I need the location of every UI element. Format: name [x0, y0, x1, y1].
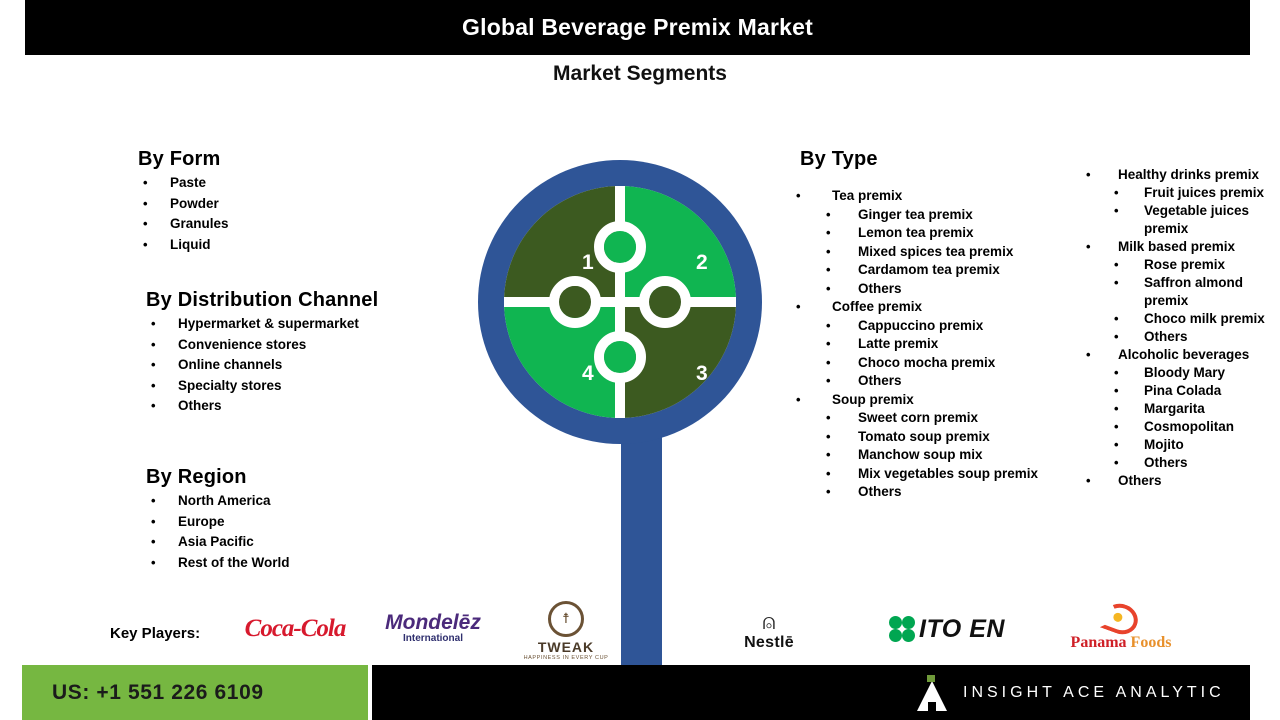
key-players-label: Key Players:: [110, 625, 200, 642]
panama-foods-wordmark: Panama Foods: [1071, 634, 1172, 652]
footer-contact-bar: US: +1 551 226 6109: [22, 665, 368, 720]
segment-by-distribution-channel: By Distribution Channel Hypermarket & su…: [146, 289, 486, 417]
panama-word: Panama: [1071, 634, 1127, 651]
list-item: Saffron almond premix: [1114, 274, 1280, 310]
puzzle-label-2: 2: [696, 251, 708, 274]
list-item: Ginger tea premix: [826, 206, 1075, 225]
header-bar: Global Beverage Premix Market: [25, 0, 1250, 55]
list-item: Others: [1114, 454, 1280, 472]
coca-cola-wordmark: Coca-Cola: [245, 615, 346, 643]
segment-by-form: By Form Paste Powder Granules Liquid: [138, 148, 468, 255]
tweak-seal-icon: ☨: [548, 601, 584, 637]
segment-by-region: By Region North America Europe Asia Paci…: [146, 466, 476, 573]
list-item: Granules: [138, 214, 468, 235]
list-item: Bloody Mary: [1114, 364, 1280, 382]
list-item: Others: [826, 483, 1075, 502]
puzzle-circle-icon: 1 2 3 4: [470, 152, 770, 452]
puzzle-knob-left-fill: [559, 286, 591, 318]
puzzle-label-4: 4: [582, 362, 594, 385]
list-item: Milk based premix: [1086, 238, 1280, 256]
list-item: Margarita: [1114, 400, 1280, 418]
list-item: Latte premix: [826, 335, 1075, 354]
list-item: Specialty stores: [146, 376, 486, 397]
segment-by-region-title: By Region: [146, 466, 476, 489]
nestle-bird-nest-icon: ⍝: [762, 610, 775, 634]
mondelez-wordmark: Mondelēz: [385, 612, 481, 633]
logo-mondelez: Mondelēz International: [370, 600, 496, 656]
list-item: Others: [146, 396, 486, 417]
puzzle-knob-bottom-fill: [604, 341, 636, 373]
list-item: Cosmopolitan: [1114, 418, 1280, 436]
puzzle-label-3: 3: [696, 362, 708, 385]
contact-phone: US: +1 551 226 6109: [52, 681, 264, 705]
logo-coca-cola: Coca-Cola: [236, 604, 354, 654]
insight-ace-logo-icon: [917, 675, 947, 711]
list-item: Others: [1114, 328, 1280, 346]
list-item: Choco mocha premix: [826, 354, 1075, 373]
list-item: Fruit juices premix: [1114, 184, 1280, 202]
list-item: Rose premix: [1114, 256, 1280, 274]
list-item: Lemon tea premix: [826, 224, 1075, 243]
by-type-sublist-healthy-drinks: Fruit juices premix Vegetable juices pre…: [1114, 184, 1280, 238]
list-item: Cappuccino premix: [826, 317, 1075, 336]
clover-icon: [889, 616, 915, 642]
list-item: North America: [146, 491, 476, 512]
mondelez-subtitle: International: [403, 633, 463, 645]
nestle-wordmark: Nestlē: [744, 634, 794, 652]
list-item: Cardamom tea premix: [826, 261, 1075, 280]
list-item: Sweet corn premix: [826, 409, 1075, 428]
by-type-sublist-alcoholic: Bloody Mary Pina Colada Margarita Cosmop…: [1114, 364, 1280, 472]
list-item: Paste: [138, 173, 468, 194]
puzzle-knob-top-fill: [604, 231, 636, 263]
by-type-list: Tea premix Ginger tea premix Lemon tea p…: [800, 187, 1075, 502]
list-item: Tea premix: [800, 187, 1075, 206]
by-type-continued-list: Healthy drinks premix Fruit juices premi…: [1086, 166, 1280, 490]
foods-word: Foods: [1131, 634, 1172, 651]
segment-by-distribution-channel-title: By Distribution Channel: [146, 289, 486, 312]
panama-swirl-icon: [1100, 599, 1142, 639]
list-item: Tomato soup premix: [826, 428, 1075, 447]
list-item: Soup premix: [800, 391, 1075, 410]
by-region-list: North America Europe Asia Pacific Rest o…: [146, 491, 476, 573]
segment-by-type-continued: Healthy drinks premix Fruit juices premi…: [1086, 166, 1280, 490]
list-item: Mixed spices tea premix: [826, 243, 1075, 262]
logo-nestle: ⍝ Nestlē: [726, 598, 812, 664]
list-item: Liquid: [138, 235, 468, 256]
list-item: Hypermarket & supermarket: [146, 314, 486, 335]
list-item: Manchow soup mix: [826, 446, 1075, 465]
logo-tweak: ☨ TWEAK HAPPINESS IN EVERY CUP: [521, 598, 611, 664]
ito-en-wordmark: ITO EN: [919, 615, 1005, 644]
puzzle-label-1: 1: [582, 251, 594, 274]
puzzle-knob-right-fill: [649, 286, 681, 318]
by-form-list: Paste Powder Granules Liquid: [138, 173, 468, 255]
list-item: Convenience stores: [146, 335, 486, 356]
list-item: Rest of the World: [146, 553, 476, 574]
segment-by-type-title: By Type: [800, 148, 1075, 171]
list-item: Others: [826, 372, 1075, 391]
by-type-sublist-coffee: Cappuccino premix Latte premix Choco moc…: [826, 317, 1075, 391]
by-type-sublist-milk-based: Rose premix Saffron almond premix Choco …: [1114, 256, 1280, 346]
page-title: Global Beverage Premix Market: [462, 14, 813, 41]
by-distribution-channel-list: Hypermarket & supermarket Convenience st…: [146, 314, 486, 417]
list-item: Pina Colada: [1114, 382, 1280, 400]
by-type-sublist-tea: Ginger tea premix Lemon tea premix Mixed…: [826, 206, 1075, 299]
tweak-tagline: HAPPINESS IN EVERY CUP: [524, 655, 609, 661]
brand-name: INSIGHT ACE ANALYTIC: [963, 684, 1225, 702]
list-item: Choco milk premix: [1114, 310, 1280, 328]
list-item: Others: [1086, 472, 1280, 490]
by-type-sublist-soup: Sweet corn premix Tomato soup premix Man…: [826, 409, 1075, 502]
list-item: Coffee premix: [800, 298, 1075, 317]
segment-by-type: By Type Tea premix Ginger tea premix Lem…: [800, 148, 1075, 502]
list-item: Mojito: [1114, 436, 1280, 454]
list-item: Vegetable juices premix: [1114, 202, 1280, 238]
logo-panama-foods: Panama Foods: [1047, 598, 1195, 658]
list-item: Others: [826, 280, 1075, 299]
list-item: Mix vegetables soup premix: [826, 465, 1075, 484]
tweak-wordmark: TWEAK: [538, 639, 594, 655]
page-subtitle: Market Segments: [0, 62, 1280, 86]
puzzle-divider-horizontal: [504, 297, 736, 307]
list-item: Healthy drinks premix: [1086, 166, 1280, 184]
logo-ito-en: ITO EN: [862, 605, 1032, 653]
footer-brand-bar: INSIGHT ACE ANALYTIC: [372, 665, 1250, 720]
segment-by-form-title: By Form: [138, 148, 468, 171]
magnifier-puzzle-graphic: 1 2 3 4: [470, 152, 770, 672]
list-item: Europe: [146, 512, 476, 533]
list-item: Online channels: [146, 355, 486, 376]
list-item: Powder: [138, 194, 468, 215]
list-item: Asia Pacific: [146, 532, 476, 553]
list-item: Alcoholic beverages: [1086, 346, 1280, 364]
